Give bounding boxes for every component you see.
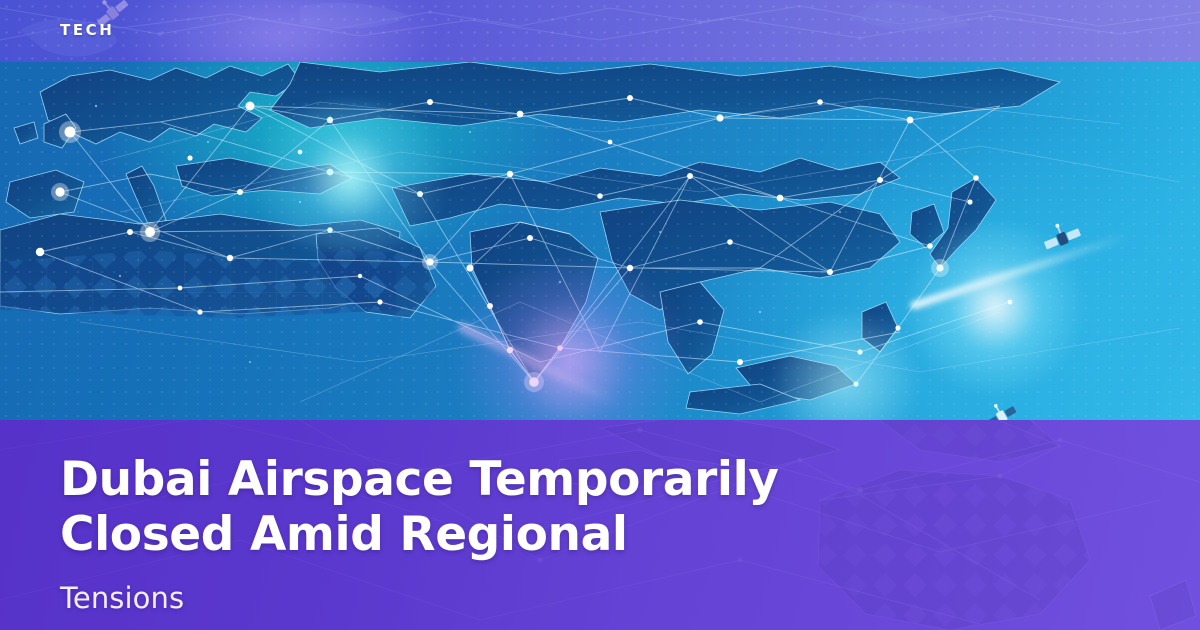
headline-continuation: Tensions [60,580,960,616]
map-dot-texture [0,62,1200,420]
header-light-sheen [120,0,440,62]
hero-map-band [0,62,1200,420]
news-share-card: TECH [0,0,1200,630]
category-label: TECH [60,20,114,40]
header-band: TECH [0,0,1200,62]
headline: Dubai Airspace Temporarily Closed Amid R… [60,452,1060,562]
